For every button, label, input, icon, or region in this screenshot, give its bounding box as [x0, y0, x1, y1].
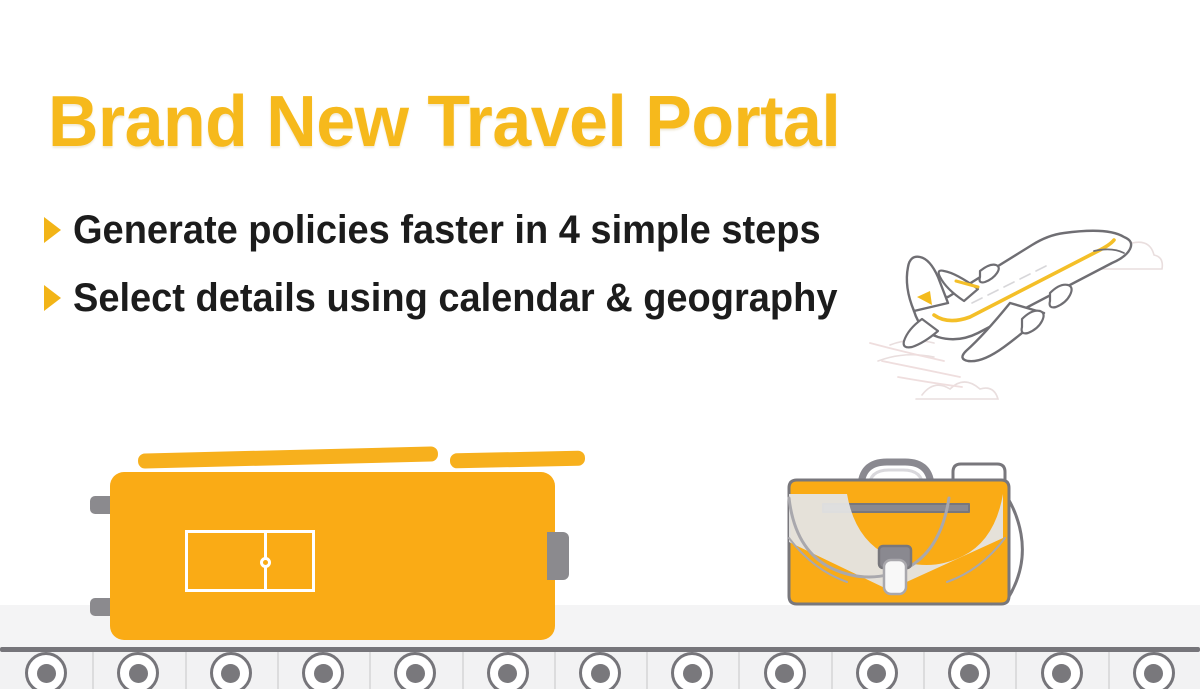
belt-roller-hub: [591, 664, 610, 683]
belt-divider: [646, 652, 648, 689]
belt-roller-hub: [960, 664, 979, 683]
belt-roller-hub: [37, 664, 56, 683]
belt-roller-hub: [1052, 664, 1071, 683]
suitcase-lid-left: [138, 446, 438, 468]
belt-roller-hub: [221, 664, 240, 683]
briefcase-illustration: [775, 450, 1065, 615]
suitcase-body: [110, 472, 555, 640]
suitcase-wheel-top: [90, 496, 112, 514]
belt-roller: [25, 652, 67, 689]
belt-divider: [1015, 652, 1017, 689]
belt-roller-hub: [683, 664, 702, 683]
list-item: Select details using calendar & geograph…: [44, 264, 944, 332]
belt-roller: [394, 652, 436, 689]
belt-roller: [117, 652, 159, 689]
belt-roller: [856, 652, 898, 689]
belt-divider: [277, 652, 279, 689]
suitcase-wheel-bottom: [90, 598, 112, 616]
belt-roller: [487, 652, 529, 689]
belt-divider: [185, 652, 187, 689]
belt-roller-hub: [406, 664, 425, 683]
belt-roller: [1133, 652, 1175, 689]
belt-roller-hub: [314, 664, 333, 683]
belt-roller: [764, 652, 806, 689]
belt-divider: [369, 652, 371, 689]
feature-bullet-list: Generate policies faster in 4 simple ste…: [44, 196, 944, 332]
triangle-bullet-icon: [44, 217, 61, 243]
suitcase-illustration: [85, 440, 585, 650]
belt-roller-hub: [775, 664, 794, 683]
belt-roller: [671, 652, 713, 689]
airplane-illustration: [860, 215, 1180, 425]
belt-roller: [210, 652, 252, 689]
suitcase-handle-grip: [547, 532, 569, 580]
list-item-label: Select details using calendar & geograph…: [73, 278, 837, 318]
belt-divider: [738, 652, 740, 689]
belt-roller-hub: [867, 664, 886, 683]
belt-divider: [1108, 652, 1110, 689]
promo-slide: LIVE Brand New Travel Portal Generate po…: [0, 0, 1200, 689]
belt-divider: [92, 652, 94, 689]
suitcase-lid-right: [450, 451, 585, 469]
page-title: Brand New Travel Portal: [48, 86, 840, 158]
belt-roller-hub: [1144, 664, 1163, 683]
triangle-bullet-icon: [44, 285, 61, 311]
suitcase-label-dot: [260, 557, 271, 568]
list-item-label: Generate policies faster in 4 simple ste…: [73, 210, 821, 250]
belt-roller: [579, 652, 621, 689]
belt-divider: [923, 652, 925, 689]
belt-roller: [302, 652, 344, 689]
belt-divider: [831, 652, 833, 689]
belt-divider: [462, 652, 464, 689]
list-item: Generate policies faster in 4 simple ste…: [44, 196, 944, 264]
suitcase-label-tag: [185, 530, 315, 592]
belt-divider: [554, 652, 556, 689]
belt-roller-hub: [498, 664, 517, 683]
belt-roller-hub: [129, 664, 148, 683]
belt-roller: [948, 652, 990, 689]
belt-roller: [1041, 652, 1083, 689]
